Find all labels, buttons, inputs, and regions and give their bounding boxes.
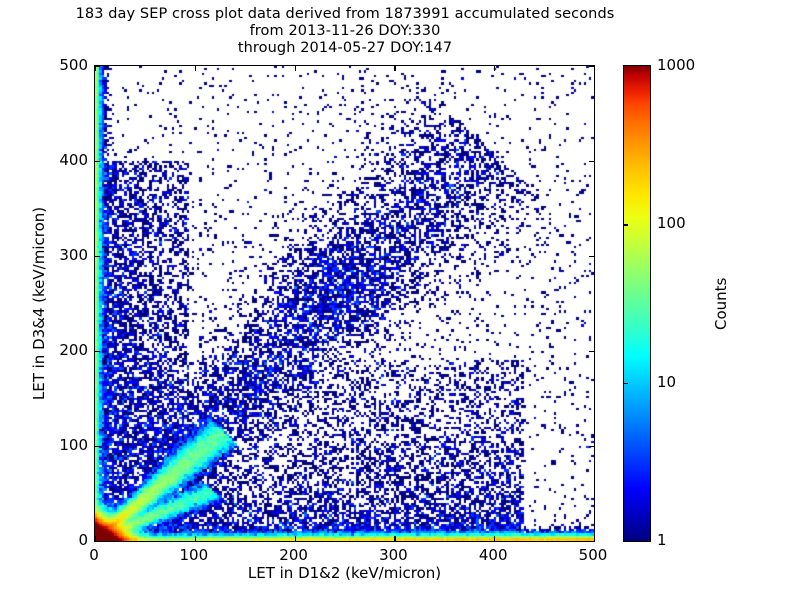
y-tick-left	[95, 66, 100, 67]
x-tick-top	[295, 66, 296, 71]
x-tick-label: 500	[579, 546, 608, 564]
colorbar-gradient	[624, 66, 650, 541]
x-tick-bottom	[594, 536, 595, 541]
x-tick-top	[494, 66, 495, 71]
x-tick-bottom	[195, 536, 196, 541]
y-tick-label: 500	[59, 56, 88, 74]
title-line-3: through 2014-05-27 DOY:147	[0, 40, 690, 57]
x-tick-label: 300	[379, 546, 408, 564]
y-tick-right	[589, 541, 594, 542]
y-tick-right	[589, 256, 594, 257]
x-tick-top	[594, 66, 595, 71]
colorbar-tick-label: 1	[657, 531, 667, 549]
colorbar	[623, 65, 651, 542]
x-tick-label: 0	[89, 546, 99, 564]
colorbar-tick	[623, 383, 628, 384]
y-axis-label: LET in D3&4 (keV/micron)	[30, 65, 48, 542]
colorbar-tick-label: 100	[657, 214, 686, 232]
y-tick-left	[95, 351, 100, 352]
x-tick-label: 100	[179, 546, 208, 564]
y-tick-label: 0	[78, 531, 88, 549]
plot-axes-area	[94, 65, 595, 542]
y-tick-left	[95, 446, 100, 447]
y-tick-label: 400	[59, 151, 88, 169]
y-tick-left	[95, 161, 100, 162]
colorbar-tick-label: 10	[657, 373, 676, 391]
x-tick-bottom	[394, 536, 395, 541]
y-tick-label: 100	[59, 436, 88, 454]
y-tick-label: 300	[59, 246, 88, 264]
colorbar-tick-label: 1000	[657, 56, 695, 74]
y-tick-right	[589, 161, 594, 162]
figure-canvas: 183 day SEP cross plot data derived from…	[0, 0, 800, 600]
density-scatter-plot	[95, 66, 594, 541]
x-axis-label: LET in D1&2 (keV/micron)	[94, 564, 595, 582]
title-line-1: 183 day SEP cross plot data derived from…	[0, 6, 690, 23]
x-tick-bottom	[494, 536, 495, 541]
x-tick-bottom	[295, 536, 296, 541]
y-tick-right	[589, 351, 594, 352]
colorbar-tick	[623, 224, 628, 225]
x-tick-label: 200	[279, 546, 308, 564]
y-tick-left	[95, 256, 100, 257]
colorbar-label: Counts	[712, 278, 730, 330]
x-tick-label: 400	[479, 546, 508, 564]
x-tick-top	[394, 66, 395, 71]
plot-title: 183 day SEP cross plot data derived from…	[0, 6, 690, 57]
y-tick-right	[589, 446, 594, 447]
x-tick-top	[195, 66, 196, 71]
y-tick-right	[589, 66, 594, 67]
y-tick-label: 200	[59, 341, 88, 359]
y-tick-left	[95, 541, 100, 542]
title-line-2: from 2013-11-26 DOY:330	[0, 23, 690, 40]
